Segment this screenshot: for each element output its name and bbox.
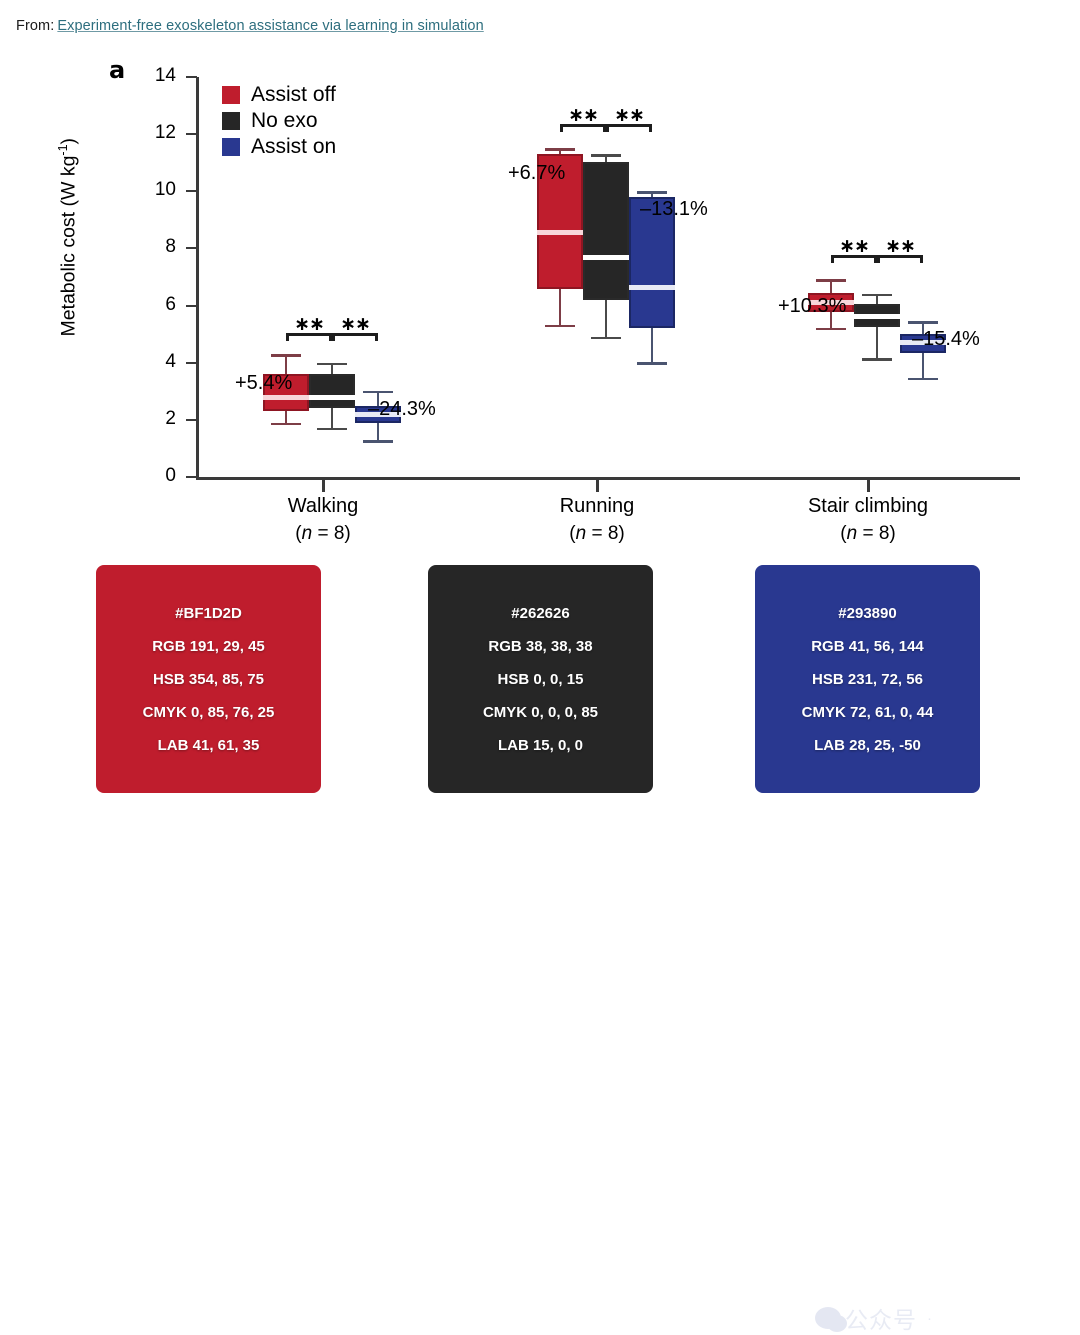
significance-stars: ∗∗ [877,235,923,257]
median-line [629,285,675,290]
median-line [263,395,309,400]
wechat-watermark: 公众号 · [815,1301,932,1335]
median-line [583,255,629,260]
significance-stars: ∗∗ [286,313,332,335]
y-tick [186,305,197,307]
swatch-no-exo: #262626RGB 38, 38, 38HSB 0, 0, 15CMYK 0,… [428,565,653,793]
y-tick-label: 6 [132,294,176,316]
legend-color-swatch-icon [222,112,240,130]
significance-stars: ∗∗ [560,104,606,126]
significance-stars: ∗∗ [831,235,877,257]
x-axis-group-label: Running(n = 8) [477,493,717,547]
whisker-lower [331,408,333,428]
swatch-assist-off: #BF1D2DRGB 191, 29, 45HSB 354, 85, 75CMY… [96,565,321,793]
swatch-color-value: CMYK 0, 85, 76, 25 [143,705,275,720]
whisker-cap-lower [908,378,938,380]
watermark-text: 公众号 [845,1301,917,1335]
box-iqr [309,374,355,408]
whisker-cap-upper [591,154,621,156]
whisker-lower [559,289,561,325]
source-attribution: From:Experiment-free exoskeleton assista… [16,18,484,34]
whisker-cap-upper [317,363,347,365]
swatch-color-value: CMYK 72, 61, 0, 44 [802,705,934,720]
whisker-cap-lower [363,440,393,442]
percent-change-annotation: –13.1% [640,198,708,221]
box-iqr [583,162,629,300]
swatch-color-value: LAB 41, 61, 35 [158,738,260,753]
whisker-lower [605,300,607,337]
group-name: Stair climbing [748,493,988,520]
whisker-lower [651,328,653,362]
y-tick-label: 10 [132,179,176,201]
swatch-color-value: LAB 15, 0, 0 [498,738,583,753]
swatch-color-value: LAB 28, 25, -50 [814,738,921,753]
median-line [309,395,355,400]
group-sample-size: (n = 8) [203,520,443,547]
percent-change-annotation: –24.3% [368,398,436,421]
from-label: From: [16,18,54,34]
swatch-color-value: HSB 0, 0, 15 [498,672,584,687]
whisker-cap-lower [591,337,621,339]
swatch-color-value: #293890 [838,606,896,621]
median-line [854,314,900,319]
percent-change-annotation: +6.7% [508,162,565,185]
legend-item-label: Assist off [251,84,336,105]
y-tick [186,76,197,78]
y-tick [186,476,197,478]
y-tick-label: 0 [132,465,176,487]
group-name: Running [477,493,717,520]
whisker-cap-upper [862,294,892,296]
swatch-color-value: #262626 [511,606,569,621]
watermark-dot: · [927,1310,932,1327]
y-tick-label: 14 [132,65,176,87]
y-tick [186,362,197,364]
legend-color-swatch-icon [222,138,240,156]
source-article-link[interactable]: Experiment-free exoskeleton assistance v… [57,18,483,34]
percent-change-annotation: +10.3% [778,295,846,318]
swatch-color-value: HSB 231, 72, 56 [812,672,923,687]
significance-stars: ∗∗ [606,104,652,126]
y-tick [186,247,197,249]
x-axis-line [196,477,1020,480]
boxplot-chart: Metabolic cost (W kg-1) 02468101214 Assi… [0,50,1080,560]
y-axis-title-text: Metabolic cost (W kg [57,156,79,337]
group-name: Walking [203,493,443,520]
whisker-lower [922,353,924,378]
whisker-cap-lower [862,358,892,360]
legend-item-assist-on[interactable]: Assist on [222,134,336,159]
whisker-upper [285,354,287,373]
median-line [537,230,583,235]
swatch-color-value: HSB 354, 85, 75 [153,672,264,687]
whisker-cap-upper [545,148,575,150]
legend-item-assist-off[interactable]: Assist off [222,82,336,107]
swatch-color-value: RGB 191, 29, 45 [152,639,265,654]
legend-color-swatch-icon [222,86,240,104]
wechat-logo-icon [815,1307,841,1329]
whisker-cap-lower [317,428,347,430]
percent-change-annotation: –15.4% [912,328,980,351]
whisker-cap-lower [816,328,846,330]
whisker-cap-lower [271,423,301,425]
legend-item-label: No exo [251,110,318,131]
x-axis-group-label: Walking(n = 8) [203,493,443,547]
significance-stars: ∗∗ [332,313,378,335]
color-swatches: #BF1D2DRGB 191, 29, 45HSB 354, 85, 75CMY… [0,565,1080,802]
swatch-color-value: RGB 41, 56, 144 [811,639,924,654]
group-sample-size: (n = 8) [748,520,988,547]
whisker-lower [377,423,379,440]
swatch-color-value: #BF1D2D [175,606,242,621]
y-tick-label: 4 [132,351,176,373]
chart-legend: Assist offNo exoAssist on [222,82,336,160]
whisker-lower [876,327,878,358]
x-tick [867,479,870,492]
legend-item-label: Assist on [251,136,336,157]
percent-change-annotation: +5.4% [235,372,292,395]
whisker-cap-lower [637,362,667,364]
whisker-cap-lower [545,325,575,327]
whisker-cap-upper [816,279,846,281]
y-axis-title-close: ) [57,138,79,145]
group-sample-size: (n = 8) [477,520,717,547]
whisker-lower [285,411,287,422]
x-axis-group-label: Stair climbing(n = 8) [748,493,988,547]
whisker-cap-upper [271,354,301,356]
x-tick [596,479,599,492]
y-tick [186,419,197,421]
swatch-color-value: CMYK 0, 0, 0, 85 [483,705,598,720]
y-tick-label: 2 [132,408,176,430]
whisker-cap-upper [363,391,393,393]
whisker-cap-upper [637,191,667,193]
whisker-cap-upper [908,321,938,323]
y-axis-title: Metabolic cost (W kg-1) [56,107,81,367]
y-tick-label: 12 [132,122,176,144]
swatch-color-value: RGB 38, 38, 38 [488,639,592,654]
y-tick [186,133,197,135]
y-axis-title-exponent: -1 [56,144,70,155]
figure-panel-a: a Metabolic cost (W kg-1) 02468101214 As… [0,50,1080,560]
y-tick-label: 8 [132,236,176,258]
swatch-assist-on: #293890RGB 41, 56, 144HSB 231, 72, 56CMY… [755,565,980,793]
y-tick [186,190,197,192]
legend-item-no-exo[interactable]: No exo [222,108,336,133]
x-tick [322,479,325,492]
